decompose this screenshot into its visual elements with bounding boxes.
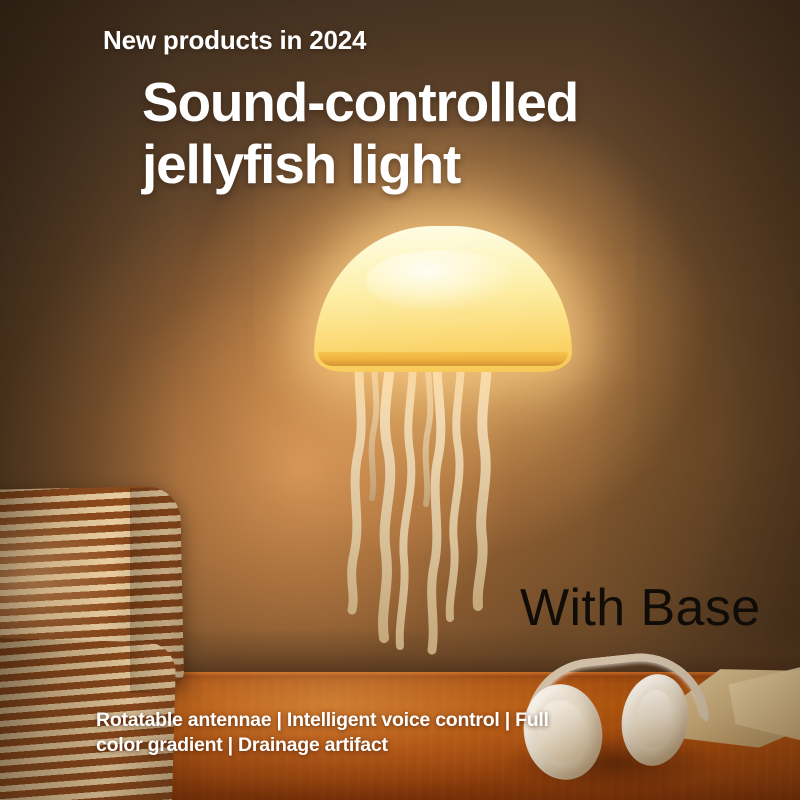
product-poster: New products in 2024 Sound-controlled je… (0, 0, 800, 800)
feature-list: Rotatable antennae | Intelligent voice c… (96, 708, 566, 758)
page-title: Sound-controlled jellyfish light (142, 72, 742, 195)
with-base-badge: With Base (520, 578, 761, 638)
kicker-label: New products in 2024 (103, 25, 366, 56)
